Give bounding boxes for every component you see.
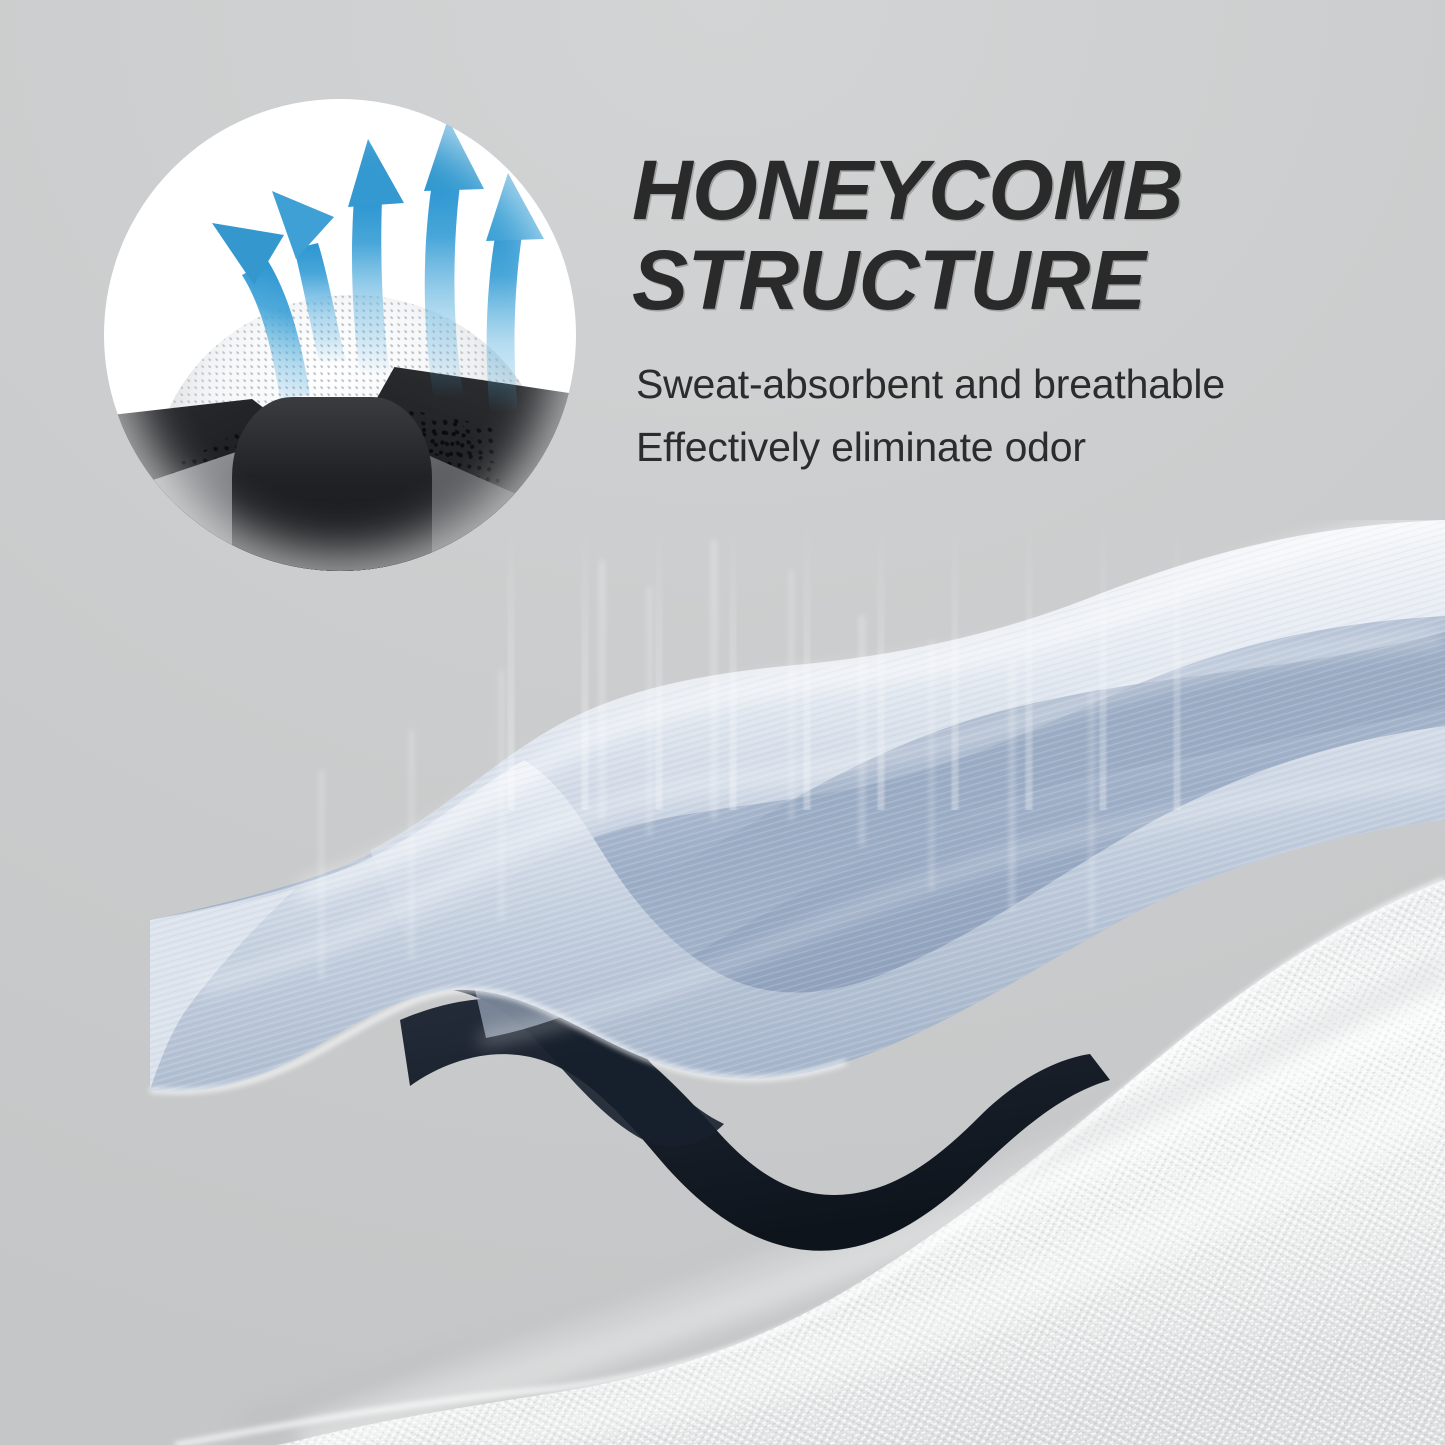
page-title-line-2: STRUCTURE bbox=[632, 238, 1412, 324]
fabric-illustration bbox=[0, 520, 1445, 1445]
subtitle-block: Sweat-absorbent and breathable Effective… bbox=[636, 353, 1412, 478]
headline-block: HONEYCOMB STRUCTURE Sweat-absorbent and … bbox=[632, 148, 1412, 478]
product-feature-banner: COOL bbox=[0, 0, 1445, 1445]
cap-inner-lining bbox=[232, 397, 432, 571]
subtitle-line-2: Effectively eliminate odor bbox=[636, 416, 1412, 478]
subtitle-line-1: Sweat-absorbent and breathable bbox=[636, 353, 1412, 415]
page-title-line-1: HONEYCOMB bbox=[632, 148, 1412, 234]
cap-photo: COOL bbox=[104, 99, 576, 571]
vapor-streaks bbox=[480, 520, 1240, 810]
product-photo-inset: COOL bbox=[104, 99, 576, 571]
